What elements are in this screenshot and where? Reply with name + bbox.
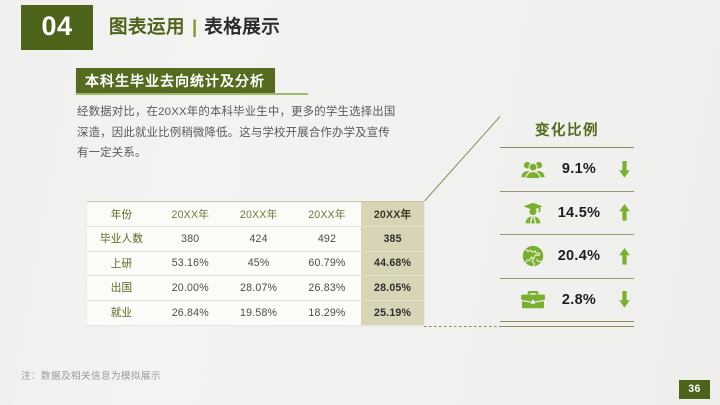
subtitle-underline (76, 93, 308, 95)
list-item: 9.1% (500, 148, 634, 192)
table-cell: 26.84% (156, 300, 224, 325)
arrow-up-icon (614, 248, 634, 265)
table-cell-row-label: 年份 (87, 202, 156, 227)
page-number-badge: 36 (679, 380, 710, 399)
table-cell: 20XX年 (156, 202, 224, 227)
list-item-value: 2.8% (546, 292, 614, 308)
footer-note: 注：数据及相关信息为模拟展示 (21, 372, 161, 382)
table-cell-row-label: 毕业人数 (87, 227, 156, 252)
list-item-value: 14.5% (546, 205, 614, 221)
arrow-down-icon (614, 291, 634, 308)
globe-icon (520, 245, 546, 267)
table-cell-row-label: 出国 (87, 276, 156, 301)
graduate-icon (520, 202, 546, 224)
briefcase-icon (520, 290, 546, 309)
section-number-label: 04 (41, 13, 72, 42)
list-item: 14.5% (500, 192, 634, 236)
arrow-down-icon (614, 161, 634, 178)
table-cell: 28.07% (224, 276, 292, 301)
people-group-icon (520, 160, 546, 179)
table-cell-highlight: 44.68% (361, 251, 424, 276)
panel-title-label: 变化比例 (535, 124, 599, 139)
table-cell-highlight: 28.05% (361, 276, 424, 301)
table-row: 就业 26.84% 19.58% 18.29% 25.19% (87, 300, 424, 325)
list-item: 20.4% (500, 235, 634, 279)
table-cell-row-label: 就业 (87, 300, 156, 325)
body-paragraph: 经数据对比，在20XX年的本科毕业生中，更多的学生选择出国 深造，因此就业比例稍… (77, 102, 427, 164)
header-title-group: 图表运用 | 表格展示 (93, 5, 280, 50)
table-cell: 60.79% (293, 251, 361, 276)
arrow-up-icon (614, 204, 634, 221)
subtitle-ribbon-label: 本科生毕业去向统计及分析 (85, 74, 265, 88)
paragraph-line-1: 经数据对比，在20XX年的本科毕业生中，更多的学生选择出国 (77, 102, 427, 123)
table-cell: 492 (293, 227, 361, 252)
paragraph-line-3: 有一定关系。 (77, 143, 427, 164)
table-cell: 20.00% (156, 276, 224, 301)
page-subtitle: 表格展示 (204, 18, 280, 37)
table-cell-highlight: 20XX年 (361, 202, 424, 227)
table-cell-row-label: 上研 (87, 251, 156, 276)
page-number-label: 36 (688, 384, 700, 395)
paragraph-line-2: 深造，因此就业比例稍微降低。这与学校开展合作办学及宣传 (77, 123, 427, 144)
list-item: 2.8% (500, 279, 634, 323)
table-cell: 26.83% (293, 276, 361, 301)
table-cell: 20XX年 (224, 202, 292, 227)
table-cell-highlight: 25.19% (361, 300, 424, 325)
table-row: 年份 20XX年 20XX年 20XX年 20XX年 (87, 202, 424, 227)
table-cell: 380 (156, 227, 224, 252)
slide-canvas: 04 图表运用 | 表格展示 本科生毕业去向统计及分析 经数据对比，在20XX年… (0, 0, 720, 405)
table-row: 毕业人数 380 424 492 385 (87, 227, 424, 252)
table-cell: 53.16% (156, 251, 224, 276)
change-ratio-panel: 变化比例 9.1% (500, 116, 634, 322)
panel-title-row: 变化比例 (500, 116, 634, 148)
table-cell: 45% (224, 251, 292, 276)
table-row: 上研 53.16% 45% 60.79% 44.68% (87, 251, 424, 276)
table-row: 出国 20.00% 28.07% 26.83% 28.05% (87, 276, 424, 301)
table-body: 年份 20XX年 20XX年 20XX年 20XX年 毕业人数 380 424 … (87, 202, 424, 325)
table-cell: 20XX年 (293, 202, 361, 227)
slide-header: 04 图表运用 | 表格展示 (21, 5, 280, 50)
list-item-value: 9.1% (546, 161, 614, 177)
section-number-badge: 04 (21, 5, 93, 50)
page-title: 图表运用 (109, 18, 185, 37)
table-cell: 18.29% (293, 300, 361, 325)
title-separator: | (192, 16, 197, 38)
table-cell: 424 (224, 227, 292, 252)
subtitle-ribbon: 本科生毕业去向统计及分析 (76, 68, 275, 93)
graduate-destination-table: 年份 20XX年 20XX年 20XX年 20XX年 毕业人数 380 424 … (87, 202, 424, 325)
table-cell-highlight: 385 (361, 227, 424, 252)
connector-diagonal-top (425, 117, 501, 202)
list-item-value: 20.4% (546, 248, 614, 264)
table-cell: 19.58% (224, 300, 292, 325)
